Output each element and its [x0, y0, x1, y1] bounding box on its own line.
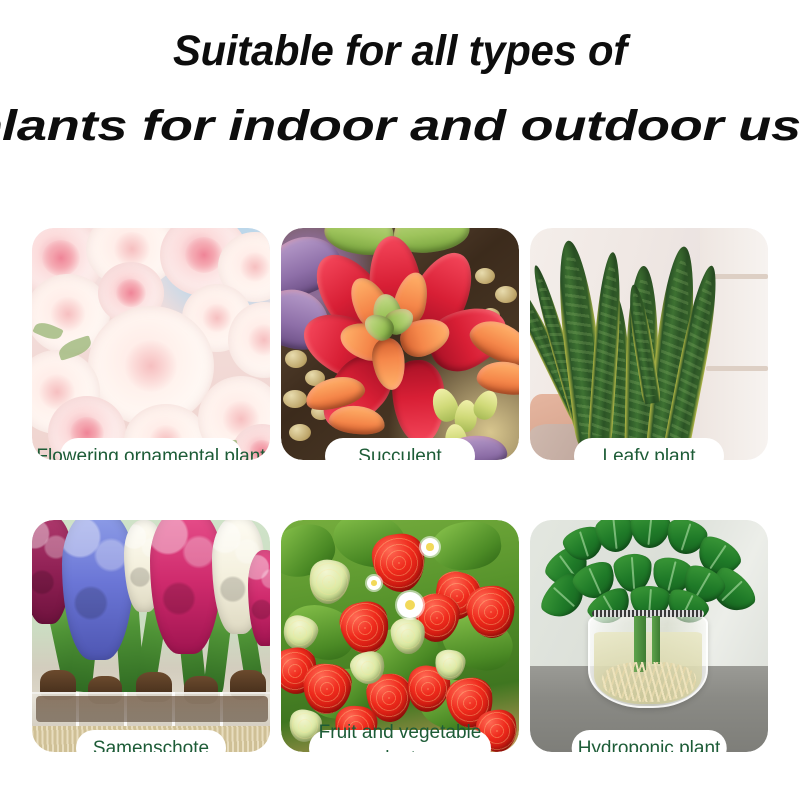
plant-label-pill-flowering-ornamental-plant: Flowering ornamental plant — [60, 438, 242, 460]
grid-cell-leafy-plant: Leafy plant — [530, 228, 768, 495]
photo-hydroponic-plant — [530, 520, 768, 752]
plant-label-pill-samenschote: Samenschote — [76, 730, 226, 752]
photo-leafy-plant — [530, 228, 768, 460]
photo-flowering-ornamental-plant — [32, 228, 270, 460]
photo-succulent — [281, 228, 519, 460]
grid-cell-fruit-and-vegetable-plants: Fruit and vegetable plants — [281, 520, 519, 787]
grid-cell-hydroponic-plant: Hydroponic plant — [530, 520, 768, 787]
grid-cell-flowering-ornamental-plant: Flowering ornamental plant — [32, 228, 270, 495]
plant-label-text: Fruit and vegetable plants — [315, 720, 485, 752]
plant-label-text: Leafy plant — [603, 446, 696, 461]
grid-cell-succulent: Succulent — [281, 228, 519, 495]
photo-fruit-and-vegetable-plants — [281, 520, 519, 752]
plant-tile-samenschote[interactable]: Samenschote — [32, 520, 270, 752]
plant-tile-leafy-plant[interactable]: Leafy plant — [530, 228, 768, 460]
plant-label-pill-succulent: Succulent — [325, 438, 475, 460]
plant-tile-fruit-and-vegetable-plants[interactable]: Fruit and vegetable plants — [281, 520, 519, 752]
plant-label-text: Hydroponic plant — [578, 738, 721, 753]
photo-samenschote — [32, 520, 270, 752]
plant-type-grid: Flowering ornamental plant — [32, 228, 768, 787]
product-feature-page: Suitable for all types of plants for ind… — [0, 0, 800, 800]
plant-tile-flowering-ornamental-plant[interactable]: Flowering ornamental plant — [32, 228, 270, 460]
plant-label-pill-leafy-plant: Leafy plant — [574, 438, 724, 460]
grid-cell-samenschote: Samenschote — [32, 520, 270, 787]
page-title-line-2: plants for indoor and outdoor use — [0, 105, 800, 148]
plant-label-text: Flowering ornamental plant — [36, 446, 265, 461]
plant-label-pill-fruit-and-vegetable-plants: Fruit and vegetable plants — [309, 730, 491, 752]
plant-label-text: Succulent — [358, 446, 441, 461]
page-title: Suitable for all types of plants for ind… — [0, 30, 800, 148]
plant-label-pill-hydroponic-plant: Hydroponic plant — [572, 730, 727, 752]
plant-tile-hydroponic-plant[interactable]: Hydroponic plant — [530, 520, 768, 752]
page-title-line-1: Suitable for all types of — [12, 30, 788, 73]
plant-label-text: Samenschote — [93, 738, 209, 753]
plant-tile-succulent[interactable]: Succulent — [281, 228, 519, 460]
